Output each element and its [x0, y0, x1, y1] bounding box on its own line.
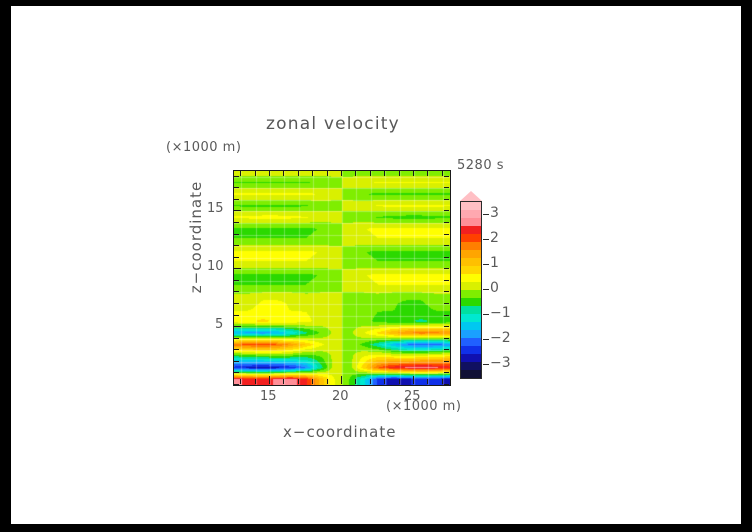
x-minor-tick-bottom	[312, 379, 313, 384]
y-minor-tick-left	[234, 338, 239, 339]
y-minor-tick-left	[234, 234, 239, 235]
colorbar-label: −1	[490, 305, 511, 321]
x-minor-tick-top	[327, 171, 328, 176]
x-minor-tick-bottom	[240, 379, 241, 384]
colorbar-band	[461, 330, 481, 338]
y-minor-tick-left	[234, 257, 239, 258]
colorbar-label: −2	[490, 330, 511, 346]
y-tick-label: 15	[207, 201, 224, 216]
x-tick-label: 20	[332, 389, 349, 404]
colorbar[interactable]: 3210−1−2−3	[459, 191, 519, 391]
colorbar-band	[461, 258, 481, 266]
y-minor-tick-right	[444, 199, 449, 200]
x-minor-tick-top	[413, 171, 414, 176]
y-tick-label: 5	[215, 317, 223, 332]
x-minor-tick-bottom	[255, 379, 256, 384]
x-minor-tick-top	[355, 171, 356, 176]
colorbar-label: 1	[490, 255, 499, 271]
colorbar-band	[461, 362, 481, 370]
y-minor-tick-right	[444, 303, 449, 304]
y-minor-tick-right	[444, 372, 449, 373]
colorbar-tick	[483, 314, 489, 315]
x-minor-tick-bottom	[427, 379, 428, 384]
y-minor-tick-left	[234, 222, 239, 223]
colorbar-band	[461, 370, 481, 378]
x-minor-tick-bottom	[283, 379, 284, 384]
y-major-tick	[233, 268, 241, 269]
x-major-tick	[413, 376, 414, 384]
plot-canvas-white: zonal velocity (×1000 m) 5280 s z−coordi…	[11, 6, 741, 524]
colorbar-bands	[460, 201, 482, 379]
x-minor-tick-top	[384, 171, 385, 176]
x-minor-tick-bottom	[370, 379, 371, 384]
x-minor-tick-bottom	[298, 379, 299, 384]
colorbar-band	[461, 322, 481, 330]
y-minor-tick-left	[234, 291, 239, 292]
contour-field-canvas	[234, 171, 450, 385]
y-minor-tick-right	[444, 280, 449, 281]
x-minor-tick-top	[298, 171, 299, 176]
colorbar-band	[461, 314, 481, 322]
x-minor-tick-bottom	[384, 379, 385, 384]
colorbar-tick	[483, 239, 489, 240]
colorbar-tick	[483, 364, 489, 365]
colorbar-band	[461, 202, 481, 210]
y-minor-tick-right	[444, 187, 449, 188]
colorbar-band	[461, 354, 481, 362]
colorbar-band	[461, 234, 481, 242]
y-minor-tick-left	[234, 199, 239, 200]
x-major-tick	[269, 376, 270, 384]
colorbar-band	[461, 290, 481, 298]
x-major-tick	[341, 376, 342, 384]
x-minor-tick-top	[269, 171, 270, 176]
x-tick-label: 15	[260, 389, 277, 404]
colorbar-top-arrow-icon	[460, 191, 482, 201]
y-minor-tick-left	[234, 303, 239, 304]
y-minor-tick-right	[444, 222, 449, 223]
y-axis-title: z−coordinate	[187, 181, 205, 293]
screenshot-root: zonal velocity (×1000 m) 5280 s z−coordi…	[0, 0, 752, 532]
y-minor-tick-right	[444, 210, 449, 211]
y-minor-tick-left	[234, 280, 239, 281]
y-major-tick	[233, 210, 241, 211]
colorbar-tick	[483, 264, 489, 265]
y-minor-tick-right	[444, 234, 449, 235]
colorbar-tick	[483, 339, 489, 340]
y-minor-tick-left	[234, 349, 239, 350]
y-minor-tick-right	[444, 291, 449, 292]
y-tick-label: 10	[207, 259, 224, 274]
x-minor-tick-top	[312, 171, 313, 176]
x-minor-tick-bottom	[399, 379, 400, 384]
y-minor-tick-right	[444, 268, 449, 269]
y-minor-tick-right	[444, 245, 449, 246]
contour-plot-area[interactable]	[233, 170, 451, 386]
y-minor-tick-left	[234, 245, 239, 246]
x-minor-tick-bottom	[442, 379, 443, 384]
colorbar-label: 2	[490, 230, 499, 246]
colorbar-tick	[483, 214, 489, 215]
y-minor-tick-left	[234, 315, 239, 316]
x-minor-tick-bottom	[355, 379, 356, 384]
x-minor-tick-bottom	[327, 379, 328, 384]
y-minor-tick-right	[444, 338, 449, 339]
x-minor-tick-top	[399, 171, 400, 176]
x-axis-units-label: (×1000 m)	[386, 399, 461, 414]
colorbar-band	[461, 210, 481, 218]
x-axis-title: x−coordinate	[283, 423, 396, 441]
colorbar-label: −3	[490, 355, 511, 371]
y-minor-tick-right	[444, 176, 449, 177]
colorbar-band	[461, 306, 481, 314]
y-minor-tick-left	[234, 372, 239, 373]
colorbar-band	[461, 282, 481, 290]
colorbar-band	[461, 218, 481, 226]
x-minor-tick-top	[370, 171, 371, 176]
colorbar-band	[461, 266, 481, 274]
y-minor-tick-left	[234, 384, 239, 385]
time-annotation: 5280 s	[457, 158, 504, 173]
y-minor-tick-right	[444, 257, 449, 258]
y-major-tick	[233, 326, 241, 327]
colorbar-band	[461, 298, 481, 306]
colorbar-band	[461, 338, 481, 346]
y-axis-units-label: (×1000 m)	[166, 140, 241, 155]
colorbar-band	[461, 274, 481, 282]
x-minor-tick-top	[255, 171, 256, 176]
colorbar-label: 3	[490, 205, 499, 221]
page-title: zonal velocity	[266, 114, 400, 134]
x-minor-tick-top	[240, 171, 241, 176]
colorbar-band	[461, 346, 481, 354]
colorbar-band	[461, 226, 481, 234]
colorbar-label: 0	[490, 280, 499, 296]
colorbar-band	[461, 250, 481, 258]
y-minor-tick-left	[234, 361, 239, 362]
y-minor-tick-right	[444, 384, 449, 385]
y-minor-tick-left	[234, 187, 239, 188]
x-minor-tick-top	[442, 171, 443, 176]
y-minor-tick-left	[234, 176, 239, 177]
x-minor-tick-top	[341, 171, 342, 176]
y-minor-tick-right	[444, 315, 449, 316]
y-minor-tick-right	[444, 361, 449, 362]
y-minor-tick-right	[444, 349, 449, 350]
x-minor-tick-top	[283, 171, 284, 176]
y-minor-tick-right	[444, 326, 449, 327]
x-minor-tick-top	[427, 171, 428, 176]
colorbar-tick	[483, 289, 489, 290]
colorbar-band	[461, 242, 481, 250]
